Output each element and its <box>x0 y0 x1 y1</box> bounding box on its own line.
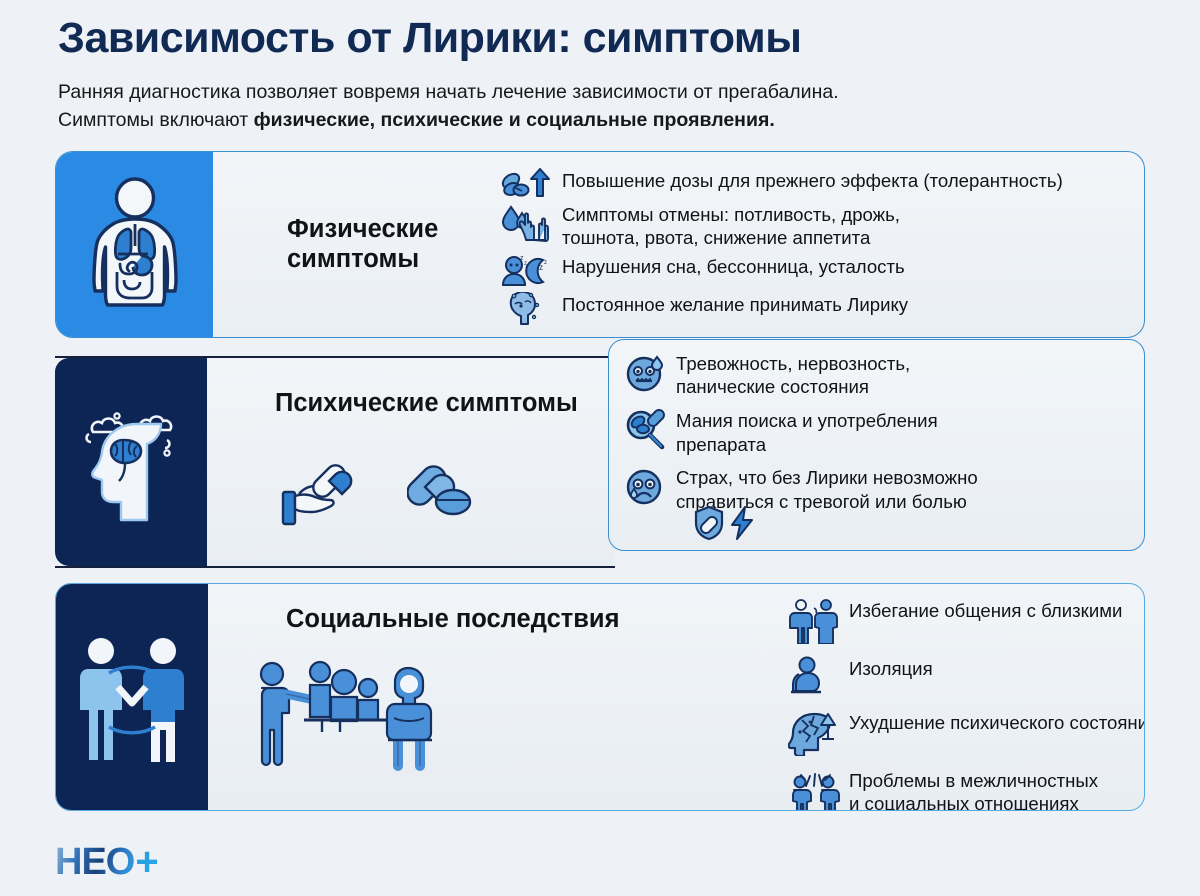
list-item: Симптомы отмены: потливость, дрожь, тошн… <box>499 202 1145 250</box>
magnifier-pills-search-icon <box>623 408 667 452</box>
craving-head-icon <box>499 292 553 326</box>
card-heading-social: Социальные последствия <box>286 604 619 634</box>
cards-board: Физические симптомы Повышение дозы для п… <box>0 151 1200 811</box>
hand-with-capsule-icon <box>275 454 385 539</box>
list-item: Ухудшение психического состояния <box>788 710 1145 756</box>
social-consequences-list: Избегание общения с близкими Изоляция <box>788 598 1145 811</box>
card-heading-physical: Физические симптомы <box>227 214 477 274</box>
fearful-crying-face-icon <box>623 465 667 509</box>
human-anatomy-icon <box>86 176 184 312</box>
list-item: Избегание общения с близкими <box>788 598 1145 644</box>
subtitle-line-2-prefix: Симптомы включают <box>58 109 254 131</box>
list-item: Изоляция <box>788 656 1145 698</box>
anxious-face-icon <box>623 351 667 395</box>
social-card-body: Социальные последствия <box>208 584 1144 810</box>
list-item-label: Избегание общения с близкими <box>849 598 1122 623</box>
infographic-page: { "header": { "title": "Зависимость от Л… <box>0 0 1200 896</box>
page-subtitle: Ранняя диагностика позволяет вовремя нач… <box>58 79 1168 134</box>
card-physical-symptoms: Физические симптомы Повышение дозы для п… <box>55 151 1145 338</box>
list-item-label: Мания поиска и употребления препарата <box>676 408 938 456</box>
list-item: Тревожность, нервозность, панические сос… <box>623 351 1134 399</box>
mental-symptoms-list: Тревожность, нервозность, панические сос… <box>623 351 1134 514</box>
sweat-drops-trembling-hand-icon <box>499 202 553 244</box>
physical-icon-panel <box>56 152 213 337</box>
shield-pill-icon <box>693 505 725 546</box>
mental-symptoms-panel: Тревожность, нервозность, панические сос… <box>608 339 1145 551</box>
list-item-label: Проблемы в межличностных и социальных от… <box>849 768 1098 811</box>
list-item: z z z z Нарушения сна, бессонница, устал… <box>499 254 1145 288</box>
social-icon-panel <box>56 584 208 810</box>
list-item-label: Симптомы отмены: потливость, дрожь, тошн… <box>562 202 900 250</box>
conflict-two-people-icon <box>788 768 840 811</box>
mental-icon-panel <box>55 358 207 566</box>
subtitle-line-2-bold: физические, психические и социальные про… <box>254 109 775 131</box>
list-item: Повышение дозы для прежнего эффекта (тол… <box>499 168 1145 198</box>
two-people-avoidance-icon <box>788 598 840 644</box>
mental-card-body: Психические симптомы <box>207 358 615 566</box>
svg-text:z: z <box>544 260 547 266</box>
subtitle-line-1: Ранняя диагностика позволяет вовремя нач… <box>58 81 839 103</box>
mental-footer-icons <box>693 505 755 546</box>
cracked-mind-head-icon <box>788 710 840 756</box>
head-brain-icon <box>75 398 187 526</box>
pills-icon <box>407 458 491 529</box>
logo-text: НЕО <box>55 843 134 881</box>
physical-card-body: Физические симптомы Повышение дозы для п… <box>213 152 1144 337</box>
two-people-handshake-icon <box>73 631 191 763</box>
person-sitting-alone-icon <box>788 656 840 698</box>
list-item-label: Изоляция <box>849 656 933 681</box>
list-item: Мания поиска и употребления препарата <box>623 408 1134 456</box>
list-item-label: Повышение дозы для прежнего эффекта (тол… <box>562 168 1063 193</box>
card-heading-mental: Психические симптомы <box>275 388 578 418</box>
list-item-label: Нарушения сна, бессонница, усталость <box>562 254 905 279</box>
lightning-bolt-icon <box>729 505 755 546</box>
list-item-label: Тревожность, нервозность, панические сос… <box>676 351 910 399</box>
pills-up-arrow-icon <box>499 168 553 198</box>
physical-symptoms-list: Повышение дозы для прежнего эффекта (тол… <box>499 168 1145 326</box>
brand-logo: НЕО + <box>55 842 159 882</box>
card-mental-symptoms: Психические симптомы <box>55 356 615 568</box>
group-of-people-isolation-icon <box>248 644 458 779</box>
logo-plus-icon: + <box>135 842 158 882</box>
sleepless-face-moon-icon: z z z z <box>499 254 553 288</box>
list-item: Постоянное желание принимать Лирику <box>499 292 1145 326</box>
header: Зависимость от Лирики: симптомы Ранняя д… <box>0 0 1200 135</box>
svg-text:z: z <box>539 263 543 272</box>
list-item: Проблемы в межличностных и социальных от… <box>788 768 1145 811</box>
list-item-label: Ухудшение психического состояния <box>849 710 1145 735</box>
card-social-consequences: Социальные последствия <box>55 583 1145 811</box>
page-title: Зависимость от Лирики: симптомы <box>58 14 1200 63</box>
list-item-label: Постоянное желание принимать Лирику <box>562 292 908 317</box>
